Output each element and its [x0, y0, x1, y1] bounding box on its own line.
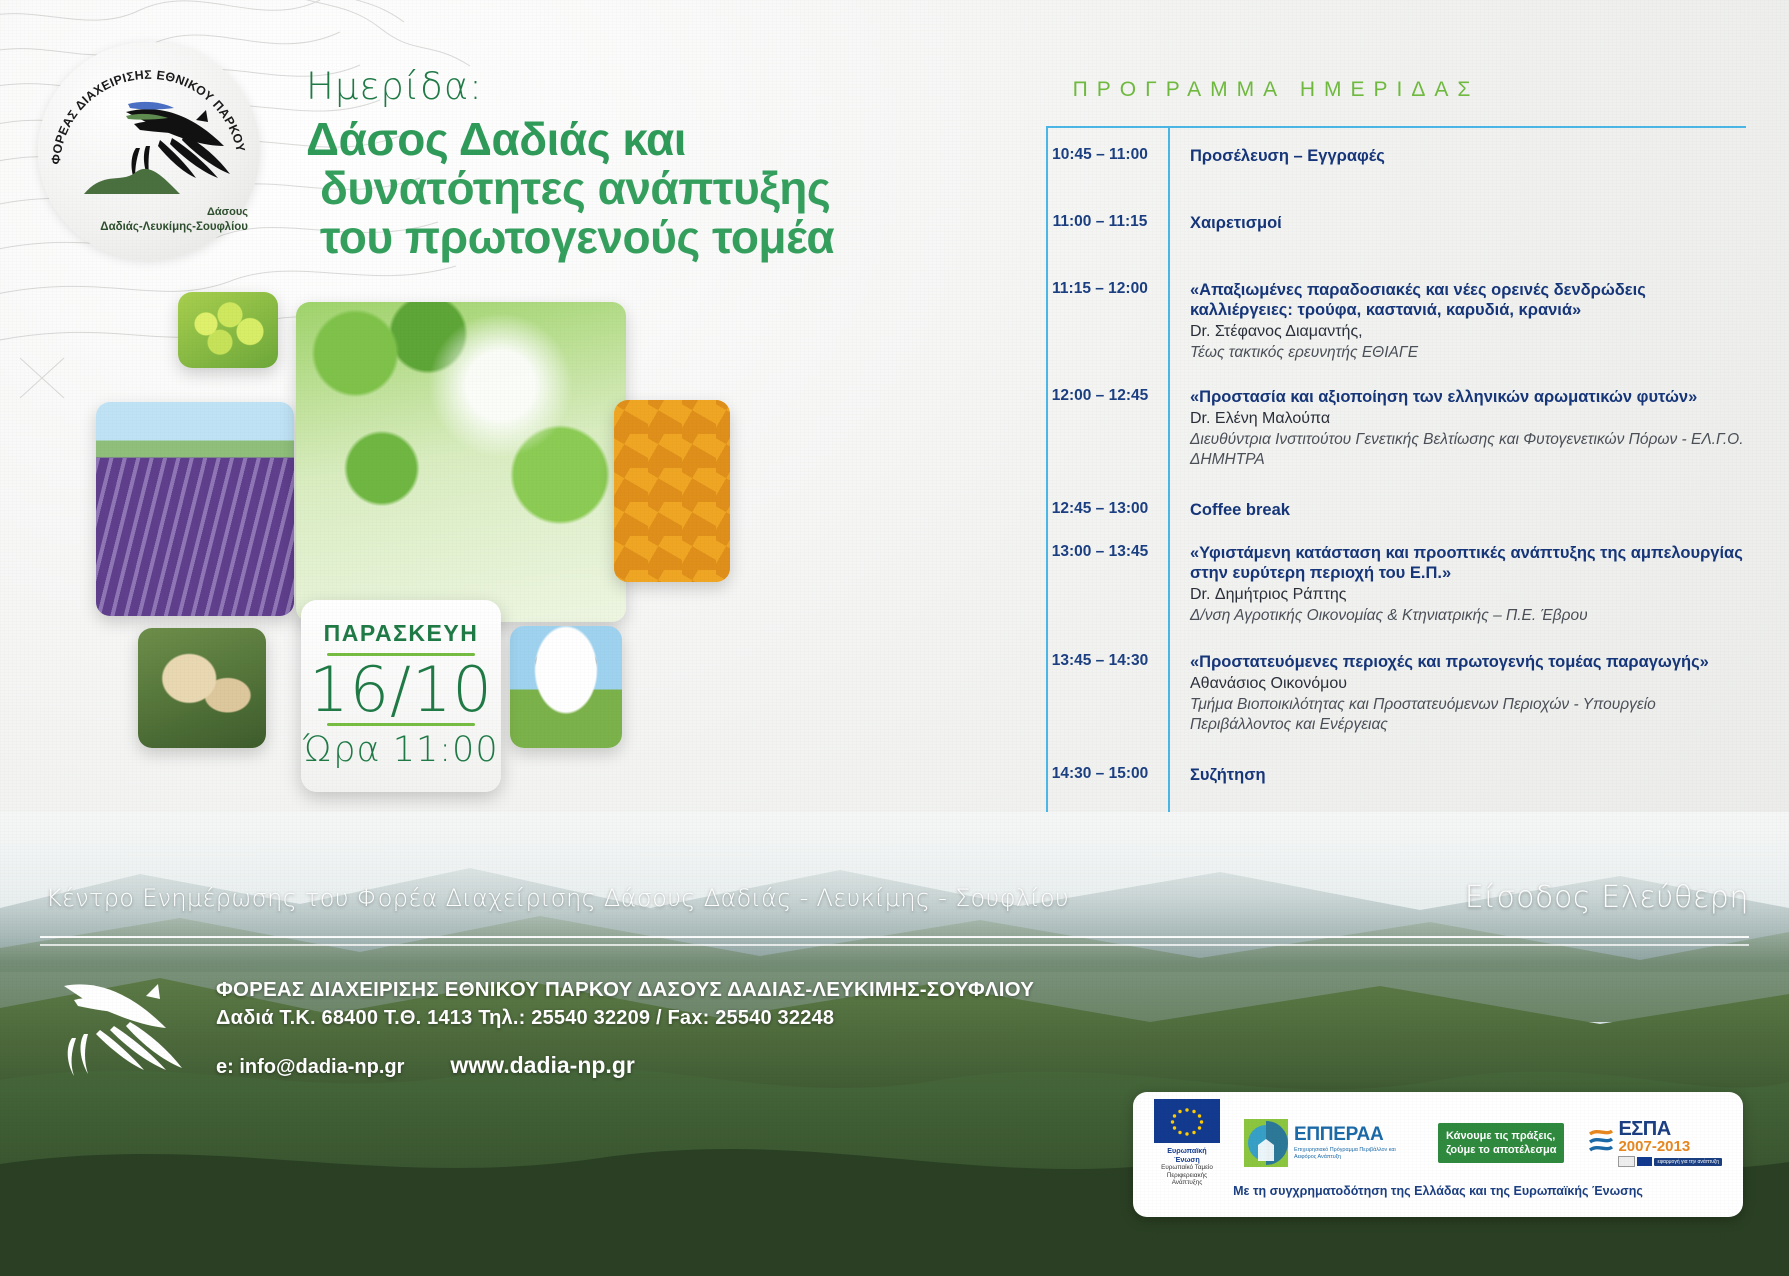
free-entry-text: Είσοδος Ελεύθερη [1465, 880, 1749, 915]
eu-flag-logo: Ευρωπαϊκή Ένωση Ευρωπαϊκό Ταμείο Περιφερ… [1154, 1099, 1220, 1188]
photo-collage: ΠΑΡΑΣΚΕΥΗ 16/10 Ώρα 11:00 [90, 278, 810, 808]
program-row: 12:00 – 12:45«Προστασία και αξιοποίηση τ… [1046, 387, 1746, 470]
program-row-title: Συζήτηση [1190, 765, 1746, 786]
epperaa-mark-icon [1244, 1119, 1288, 1167]
program-row-body: «Υφιστάμενη κατάσταση και προοπτικές ανά… [1168, 543, 1746, 627]
photo-bee-honeycomb [614, 400, 730, 582]
slogan-badge: Κάνουμε τις πράξεις, ζούμε το αποτέλεσμα [1438, 1123, 1564, 1163]
program-row-affiliation: Διευθύντρια Ινστιτούτου Γενετικής Βελτίω… [1190, 430, 1746, 470]
program-row-time: 10:45 – 11:00 [1046, 146, 1168, 164]
program-row: 10:45 – 11:00Προσέλευση – Εγγραφές [1046, 146, 1746, 167]
photo-cow [510, 626, 622, 748]
program-row: 11:00 – 11:15Χαιρετισμοί [1046, 213, 1746, 234]
program-row-body: «Προστατευόμενες περιοχές και πρωτογενής… [1168, 652, 1746, 735]
contact-block: ΦΟΡΕΑΣ ΔΙΑΧΕΙΡΙΣΗΣ ΕΘΝΙΚΟΥ ΠΑΡΚΟΥ ΔΑΣΟΥΣ… [216, 978, 1034, 1079]
eu-flag-caption: Ευρωπαϊκή Ένωση Ευρωπαϊκό Ταμείο Περιφερ… [1154, 1146, 1220, 1188]
program-rows: 10:45 – 11:00Προσέλευση – Εγγραφές11:00 … [1046, 128, 1746, 835]
greek-flag-icon [1618, 1156, 1635, 1167]
logo-subtitle-line2: Δαδιάς-Λευκίμης-Σουφλίου [88, 220, 248, 234]
program-table: 10:45 – 11:00Προσέλευση – Εγγραφές11:00 … [1046, 126, 1746, 918]
photo-lavender-field [96, 402, 294, 616]
program-row-affiliation: Τέως τακτικός ερευνητής ΕΘΙΑΓΕ [1190, 343, 1746, 363]
epperaa-logo: ΕΠΠΕΡΑΑ Επιχειρησιακό Πρόγραμμα Περιβάλλ… [1244, 1119, 1414, 1167]
espa-waves-icon [1588, 1126, 1614, 1160]
photo-grapes [178, 292, 278, 368]
program-row-time: 11:15 – 12:00 [1046, 280, 1168, 298]
program-row-speaker: Dr. Δημήτριος Ράπτης [1190, 585, 1746, 606]
eu-flag-sub1: Ευρωπαϊκό Ταμείο [1154, 1164, 1220, 1172]
espa-tagline: εφαρμογή για την ανάπτυξη [1654, 1158, 1722, 1166]
event-kicker: Ημερίδα: [306, 68, 866, 105]
date-time: Ώρα 11:00 [301, 730, 501, 770]
program-row-time: 13:45 – 14:30 [1046, 652, 1168, 670]
program-row-body: Coffee break [1168, 500, 1746, 521]
date-day-of-week: ΠΑΡΑΣΚΕΥΗ [301, 620, 501, 647]
program-row-time: 13:00 – 13:45 [1046, 543, 1168, 561]
program-row: 11:15 – 12:00«Απαξιωμένες παραδοσιακές κ… [1046, 280, 1746, 364]
espa-logo: ΕΣΠΑ 2007-2013 εφαρμογή για την ανάπτυξη [1588, 1119, 1722, 1168]
headline-line-3: του πρωτογενούς τομέα [306, 213, 866, 262]
contact-email[interactable]: e: info@dadia-np.gr [216, 1056, 404, 1079]
epperaa-name: ΕΠΠΕΡΑΑ [1294, 1125, 1414, 1144]
program-row-title: Προσέλευση – Εγγραφές [1190, 146, 1746, 167]
espa-name: ΕΣΠΑ [1618, 1119, 1722, 1139]
eu-funding-panel: Ευρωπαϊκή Ένωση Ευρωπαϊκό Ταμείο Περιφερ… [1133, 1092, 1743, 1217]
program-row-speaker: Dr. Ελένη Μαλούπα [1190, 409, 1746, 430]
headline-line-1: Δάσος Δαδιάς και [306, 115, 866, 164]
eu-mini-flag-icon [1637, 1157, 1652, 1166]
program-row-title: «Απαξιωμένες παραδοσιακές και νέες ορειν… [1190, 280, 1746, 322]
program-row-body: Προσέλευση – Εγγραφές [1168, 146, 1746, 167]
date-card: ΠΑΡΑΣΚΕΥΗ 16/10 Ώρα 11:00 [301, 600, 501, 792]
program-row: 13:00 – 13:45«Υφιστάμενη κατάσταση και π… [1046, 543, 1746, 627]
program-row-body: Συζήτηση [1168, 765, 1746, 786]
logo-subtitle: Δάσους Δαδιάς-Λευκίμης-Σουφλίου [88, 206, 248, 234]
program-row-speaker: Αθανάσιος Οικονόμου [1190, 674, 1746, 695]
slogan-line-1: Κάνουμε τις πράξεις, [1446, 1129, 1556, 1143]
bird-logo-icon [84, 102, 230, 194]
title-block: Ημερίδα: Δάσος Δαδιάς και δυνατότητες αν… [306, 68, 866, 261]
program-row-title: Χαιρετισμοί [1190, 213, 1746, 234]
slogan-line-2: ζούμε το αποτέλεσμα [1446, 1143, 1556, 1157]
poster: ΦΟΡΕΑΣ ΔΙΑΧΕΙΡΙΣΗΣ ΕΘΝΙΚΟΥ ΠΑΡΚΟΥ Δάσους… [0, 0, 1789, 1276]
espa-years: 2007-2013 [1618, 1139, 1722, 1155]
program-row: 14:30 – 15:00Συζήτηση [1046, 765, 1746, 786]
program-row-title: «Προστατευόμενες περιοχές και πρωτογενής… [1190, 652, 1746, 673]
event-headline: Δάσος Δαδιάς και δυνατότητες ανάπτυξης τ… [306, 115, 866, 261]
logo-subtitle-line1: Δάσους [88, 206, 248, 220]
program-row: 12:45 – 13:00Coffee break [1046, 500, 1746, 521]
program-row-affiliation: Τμήμα Βιοποικιλότητας και Προστατευόμενω… [1190, 695, 1746, 735]
eu-flag-label: Ευρωπαϊκή Ένωση [1154, 1146, 1220, 1164]
contact-org-name: ΦΟΡΕΑΣ ΔΙΑΧΕΙΡΙΣΗΣ ΕΘΝΙΚΟΥ ΠΑΡΚΟΥ ΔΑΣΟΥΣ… [216, 978, 1034, 1002]
bird-footer-icon [54, 968, 194, 1078]
date-number: 16/10 [301, 658, 501, 721]
program-row-time: 11:00 – 11:15 [1046, 213, 1168, 231]
epperaa-subtitle: Επιχειρησιακό Πρόγραμμα Περιβάλλον και Α… [1294, 1147, 1414, 1161]
program-row-title: Coffee break [1190, 500, 1746, 521]
organization-logo: ΦΟΡΕΑΣ ΔΙΑΧΕΙΡΙΣΗΣ ΕΘΝΙΚΟΥ ΠΑΡΚΟΥ Δάσους… [38, 42, 260, 260]
program-row-body: «Προστασία και αξιοποίηση των ελληνικών … [1168, 387, 1746, 470]
program-row-time: 12:45 – 13:00 [1046, 500, 1168, 518]
program-row-time: 12:00 – 12:45 [1046, 387, 1168, 405]
venue-text: Κέντρο Ενημέρωσης του Φορέα Διαχείρισης … [46, 884, 1069, 912]
program-row: 13:45 – 14:30«Προστατευόμενες περιοχές κ… [1046, 652, 1746, 735]
footer-divider [40, 936, 1749, 946]
photo-green-leaves [296, 302, 626, 622]
program-heading: ΠΡΟΓΡΑΜΜΑ ΗΜΕΡΙΔΑΣ [1016, 78, 1536, 102]
contact-website[interactable]: www.dadia-np.gr [450, 1052, 634, 1079]
program-row-time: 14:30 – 15:00 [1046, 765, 1168, 783]
contact-address: Δαδιά Τ.Κ. 68400 Τ.Θ. 1413 Τηλ.: 25540 3… [216, 1007, 1034, 1030]
eu-flag-sub2: Περιφερειακής Ανάπτυξης [1154, 1172, 1220, 1188]
cofunding-text: Με τη συγχρηματοδότηση της Ελλάδας και τ… [1133, 1184, 1743, 1198]
program-row-title: «Προστασία και αξιοποίηση των ελληνικών … [1190, 387, 1746, 408]
eu-flag-icon [1154, 1099, 1220, 1143]
photo-mushrooms [138, 628, 266, 748]
headline-line-2: δυνατότητες ανάπτυξης [306, 164, 866, 213]
program-row-body: «Απαξιωμένες παραδοσιακές και νέες ορειν… [1168, 280, 1746, 364]
program-row-body: Χαιρετισμοί [1168, 213, 1746, 234]
program-row-speaker: Dr. Στέφανος Διαμαντής, [1190, 322, 1746, 343]
program-row-affiliation: Δ/νση Αγροτικής Οικονομίας & Κτηνιατρική… [1190, 606, 1746, 626]
program-row-title: «Υφιστάμενη κατάσταση και προοπτικές ανά… [1190, 543, 1746, 585]
